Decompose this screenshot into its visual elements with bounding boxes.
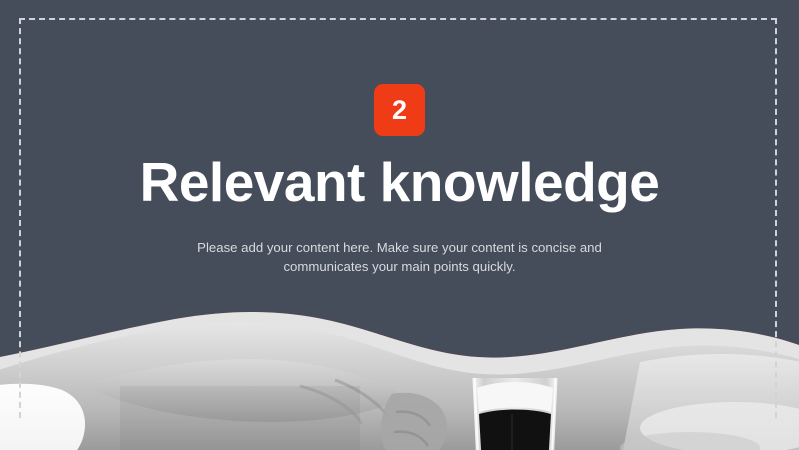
presentation-slide: 2 Relevant knowledge Please add your con…: [0, 0, 799, 450]
slide-subtitle: Please add your content here. Make sure …: [175, 238, 625, 276]
grayscale-photo: [0, 305, 799, 450]
bottom-photo-band: [0, 305, 799, 450]
wave-photo-graphic: [0, 305, 799, 450]
glass: [474, 378, 556, 450]
slide-title: Relevant knowledge: [0, 151, 799, 213]
step-number-badge: 2: [374, 84, 425, 136]
